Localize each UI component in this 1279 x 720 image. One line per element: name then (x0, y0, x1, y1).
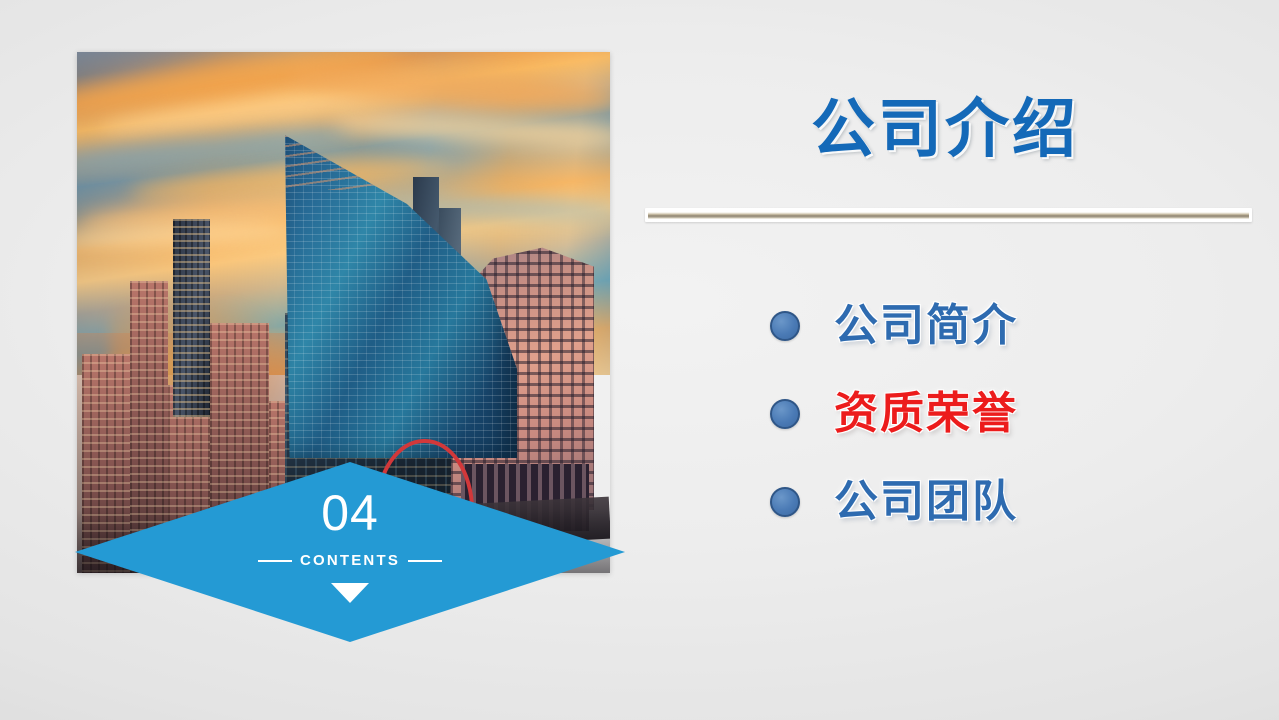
agenda-item-company-team[interactable]: 公司团队 (770, 458, 1240, 546)
contents-label-row: CONTENTS (75, 552, 625, 569)
divider-bevel (648, 212, 1249, 219)
rule-left-icon (258, 560, 292, 562)
bullet-dot-icon (770, 399, 800, 429)
dark-tower (173, 219, 210, 417)
agenda-item-label: 公司团队 (834, 480, 1018, 524)
agenda-item-qualifications-honors[interactable]: 资质荣誉 (770, 370, 1240, 458)
page-title: 公司介绍 (645, 78, 1245, 170)
chevron-down-icon (331, 583, 369, 603)
rule-right-icon (408, 560, 442, 562)
agenda-item-label: 资质荣誉 (834, 392, 1018, 436)
title-divider (645, 208, 1252, 222)
agenda-item-label: 公司简介 (834, 304, 1018, 348)
bullet-dot-icon (770, 311, 800, 341)
bullet-dot-icon (770, 487, 800, 517)
agenda-item-company-profile[interactable]: 公司简介 (770, 282, 1240, 370)
contents-label: CONTENTS (300, 552, 400, 569)
presentation-slide: 04 CONTENTS 公司介绍 公司简介 资质荣誉 公司团队 (0, 0, 1279, 720)
agenda-list: 公司简介 资质荣誉 公司团队 (770, 282, 1240, 546)
cloud-streak (332, 109, 610, 150)
